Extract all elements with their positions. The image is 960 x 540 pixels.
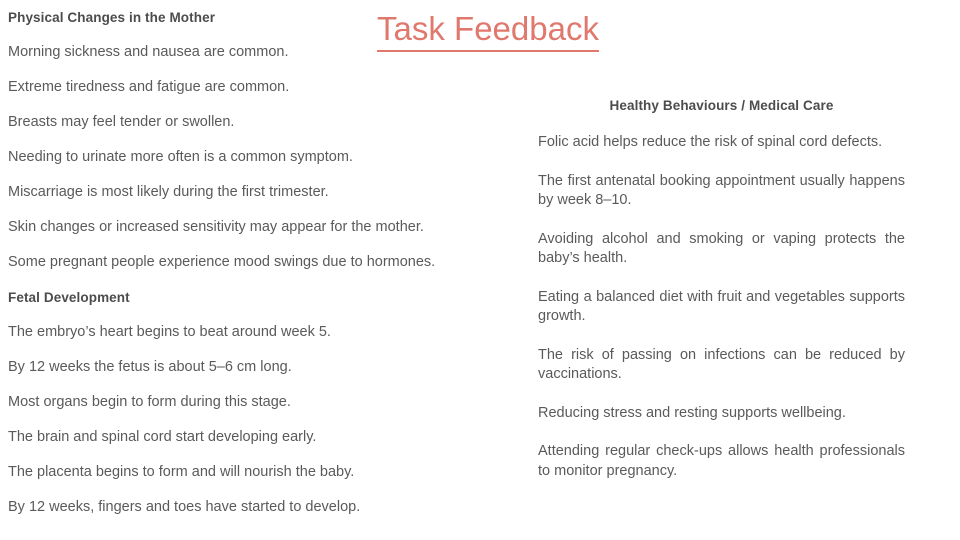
list-item: Avoiding alcohol and smoking or vaping p…: [538, 230, 905, 269]
list-item: Reducing stress and resting supports wel…: [538, 404, 905, 424]
section-heading-physical-changes: Physical Changes in the Mother: [8, 8, 478, 27]
list-item: Extreme tiredness and fatigue are common…: [8, 78, 478, 97]
section-heading-fetal-development: Fetal Development: [8, 288, 478, 307]
list-item: Morning sickness and nausea are common.: [8, 43, 478, 62]
section-heading-healthy-behaviours: Healthy Behaviours / Medical Care: [538, 96, 905, 115]
slide-canvas: Task Feedback Physical Changes in the Mo…: [0, 0, 960, 540]
list-item: The embryo’s heart begins to beat around…: [8, 323, 478, 342]
list-item: The first antenatal booking appointment …: [538, 172, 905, 211]
list-item: By 12 weeks the fetus is about 5–6 cm lo…: [8, 358, 478, 377]
list-item: The placenta begins to form and will nou…: [8, 463, 478, 482]
list-item: Eating a balanced diet with fruit and ve…: [538, 288, 905, 327]
list-item: The brain and spinal cord start developi…: [8, 428, 478, 447]
list-item: Some pregnant people experience mood swi…: [8, 253, 478, 272]
right-content-column: Healthy Behaviours / Medical Care Folic …: [538, 96, 905, 481]
list-item: Miscarriage is most likely during the fi…: [8, 183, 478, 202]
list-item: Attending regular check-ups allows healt…: [538, 442, 905, 481]
list-item: Breasts may feel tender or swollen.: [8, 113, 478, 132]
left-content-column: Physical Changes in the Mother Morning s…: [8, 8, 478, 533]
list-item: Folic acid helps reduce the risk of spin…: [538, 133, 905, 153]
list-item: Most organs begin to form during this st…: [8, 393, 478, 412]
list-item: The risk of passing on infections can be…: [538, 346, 905, 385]
list-item: Needing to urinate more often is a commo…: [8, 148, 478, 167]
list-item: Skin changes or increased sensitivity ma…: [8, 218, 478, 237]
list-item: By 12 weeks, fingers and toes have start…: [8, 498, 478, 517]
